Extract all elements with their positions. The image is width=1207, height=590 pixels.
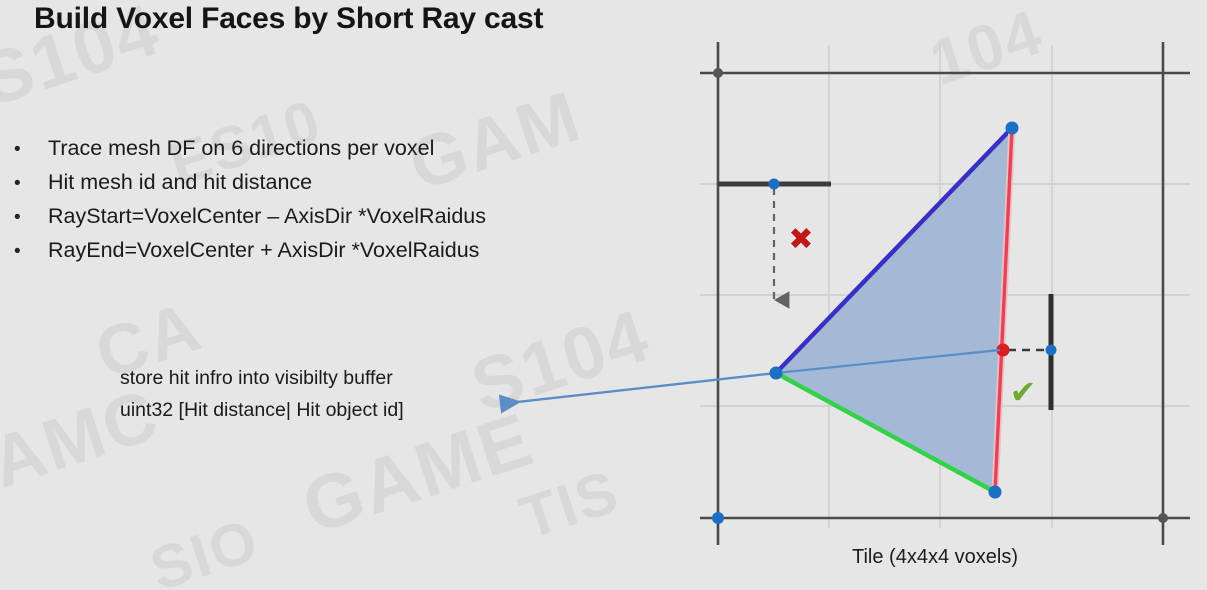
hit-ray-end-dot — [1046, 345, 1057, 356]
voxel-tile-diagram: ✖ ✔ — [0, 0, 1207, 590]
miss-ray-origin-dot — [769, 179, 780, 190]
bullet-label: Trace mesh DF on 6 directions per voxel — [48, 136, 434, 161]
visibility-buffer-note: store hit infro into visibilty buffer ui… — [120, 363, 404, 426]
bullet-marker-icon: • — [14, 208, 48, 227]
triangle-vertex-dot-bottom — [989, 486, 1002, 499]
hit-marker-icon: ✔ — [1010, 373, 1037, 411]
corner-dot-bottom-left — [712, 512, 724, 524]
note-line-2: uint32 [Hit distance| Hit object id] — [120, 395, 404, 427]
bullet-label: RayEnd=VoxelCenter + AxisDir *VoxelRaidu… — [48, 238, 479, 263]
corner-dot-bottom-right — [1158, 513, 1168, 523]
bullet-list: • Trace mesh DF on 6 directions per voxe… — [14, 136, 654, 272]
bullet-marker-icon: • — [14, 140, 48, 159]
visibility-ray-arrow — [500, 373, 776, 404]
bullet-label: Hit mesh id and hit distance — [48, 170, 312, 195]
note-line-1: store hit infro into visibilty buffer — [120, 363, 404, 395]
list-item: • Trace mesh DF on 6 directions per voxe… — [14, 136, 654, 161]
list-item: • RayEnd=VoxelCenter + AxisDir *VoxelRai… — [14, 238, 654, 263]
corner-dot-top-left — [713, 68, 723, 78]
bullet-marker-icon: • — [14, 174, 48, 193]
list-item: • RayStart=VoxelCenter – AxisDir *VoxelR… — [14, 204, 654, 229]
bullet-marker-icon: • — [14, 242, 48, 261]
diagram-caption: Tile (4x4x4 voxels) — [700, 546, 1170, 569]
triangle-vertex-dot-left — [770, 367, 783, 380]
list-item: • Hit mesh id and hit distance — [14, 170, 654, 195]
miss-marker-icon: ✖ — [788, 222, 813, 257]
bullet-label: RayStart=VoxelCenter – AxisDir *VoxelRai… — [48, 204, 486, 229]
page-title: Build Voxel Faces by Short Ray cast — [34, 2, 543, 36]
triangle-vertex-dot-top — [1006, 122, 1019, 135]
